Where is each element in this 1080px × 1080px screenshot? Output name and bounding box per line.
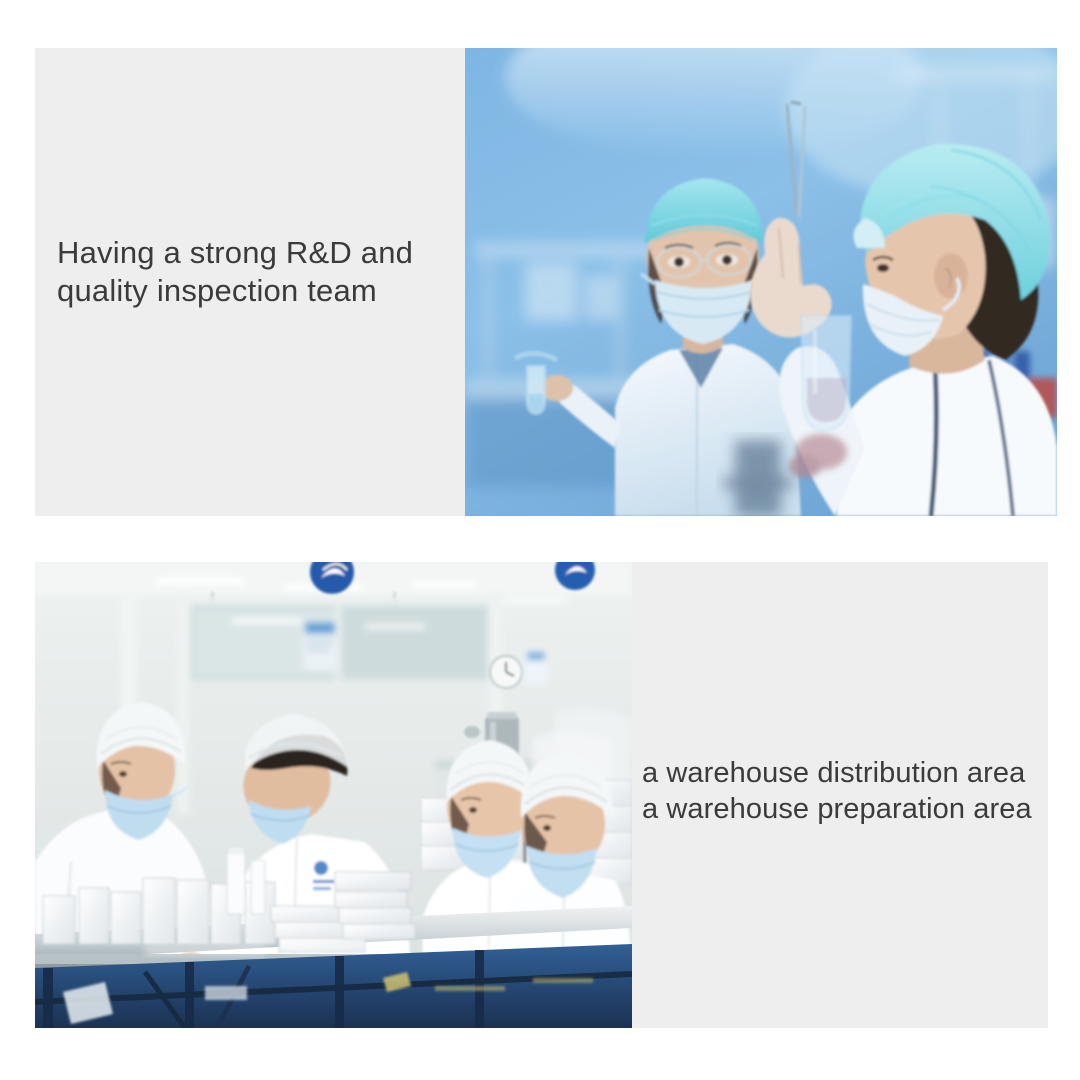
section-rnd-quality: Having a strong R&D and quality inspecti… bbox=[35, 48, 1057, 516]
lab-technicians-illustration bbox=[465, 48, 1057, 516]
lab-technicians-photo bbox=[465, 48, 1057, 516]
warehouse-caption-panel: a warehouse distribution area a warehous… bbox=[632, 562, 1048, 1028]
section-warehouse: a warehouse distribution area a warehous… bbox=[35, 562, 1048, 1028]
warehouse-packing-photo bbox=[35, 562, 632, 1028]
rnd-caption-text: Having a strong R&D and quality inspecti… bbox=[57, 234, 457, 310]
rnd-caption-panel: Having a strong R&D and quality inspecti… bbox=[35, 48, 465, 516]
warehouse-packing-illustration bbox=[35, 562, 632, 1028]
warehouse-caption-text: a warehouse distribution area a warehous… bbox=[642, 755, 1052, 827]
poster-canvas: Having a strong R&D and quality inspecti… bbox=[0, 0, 1080, 1080]
